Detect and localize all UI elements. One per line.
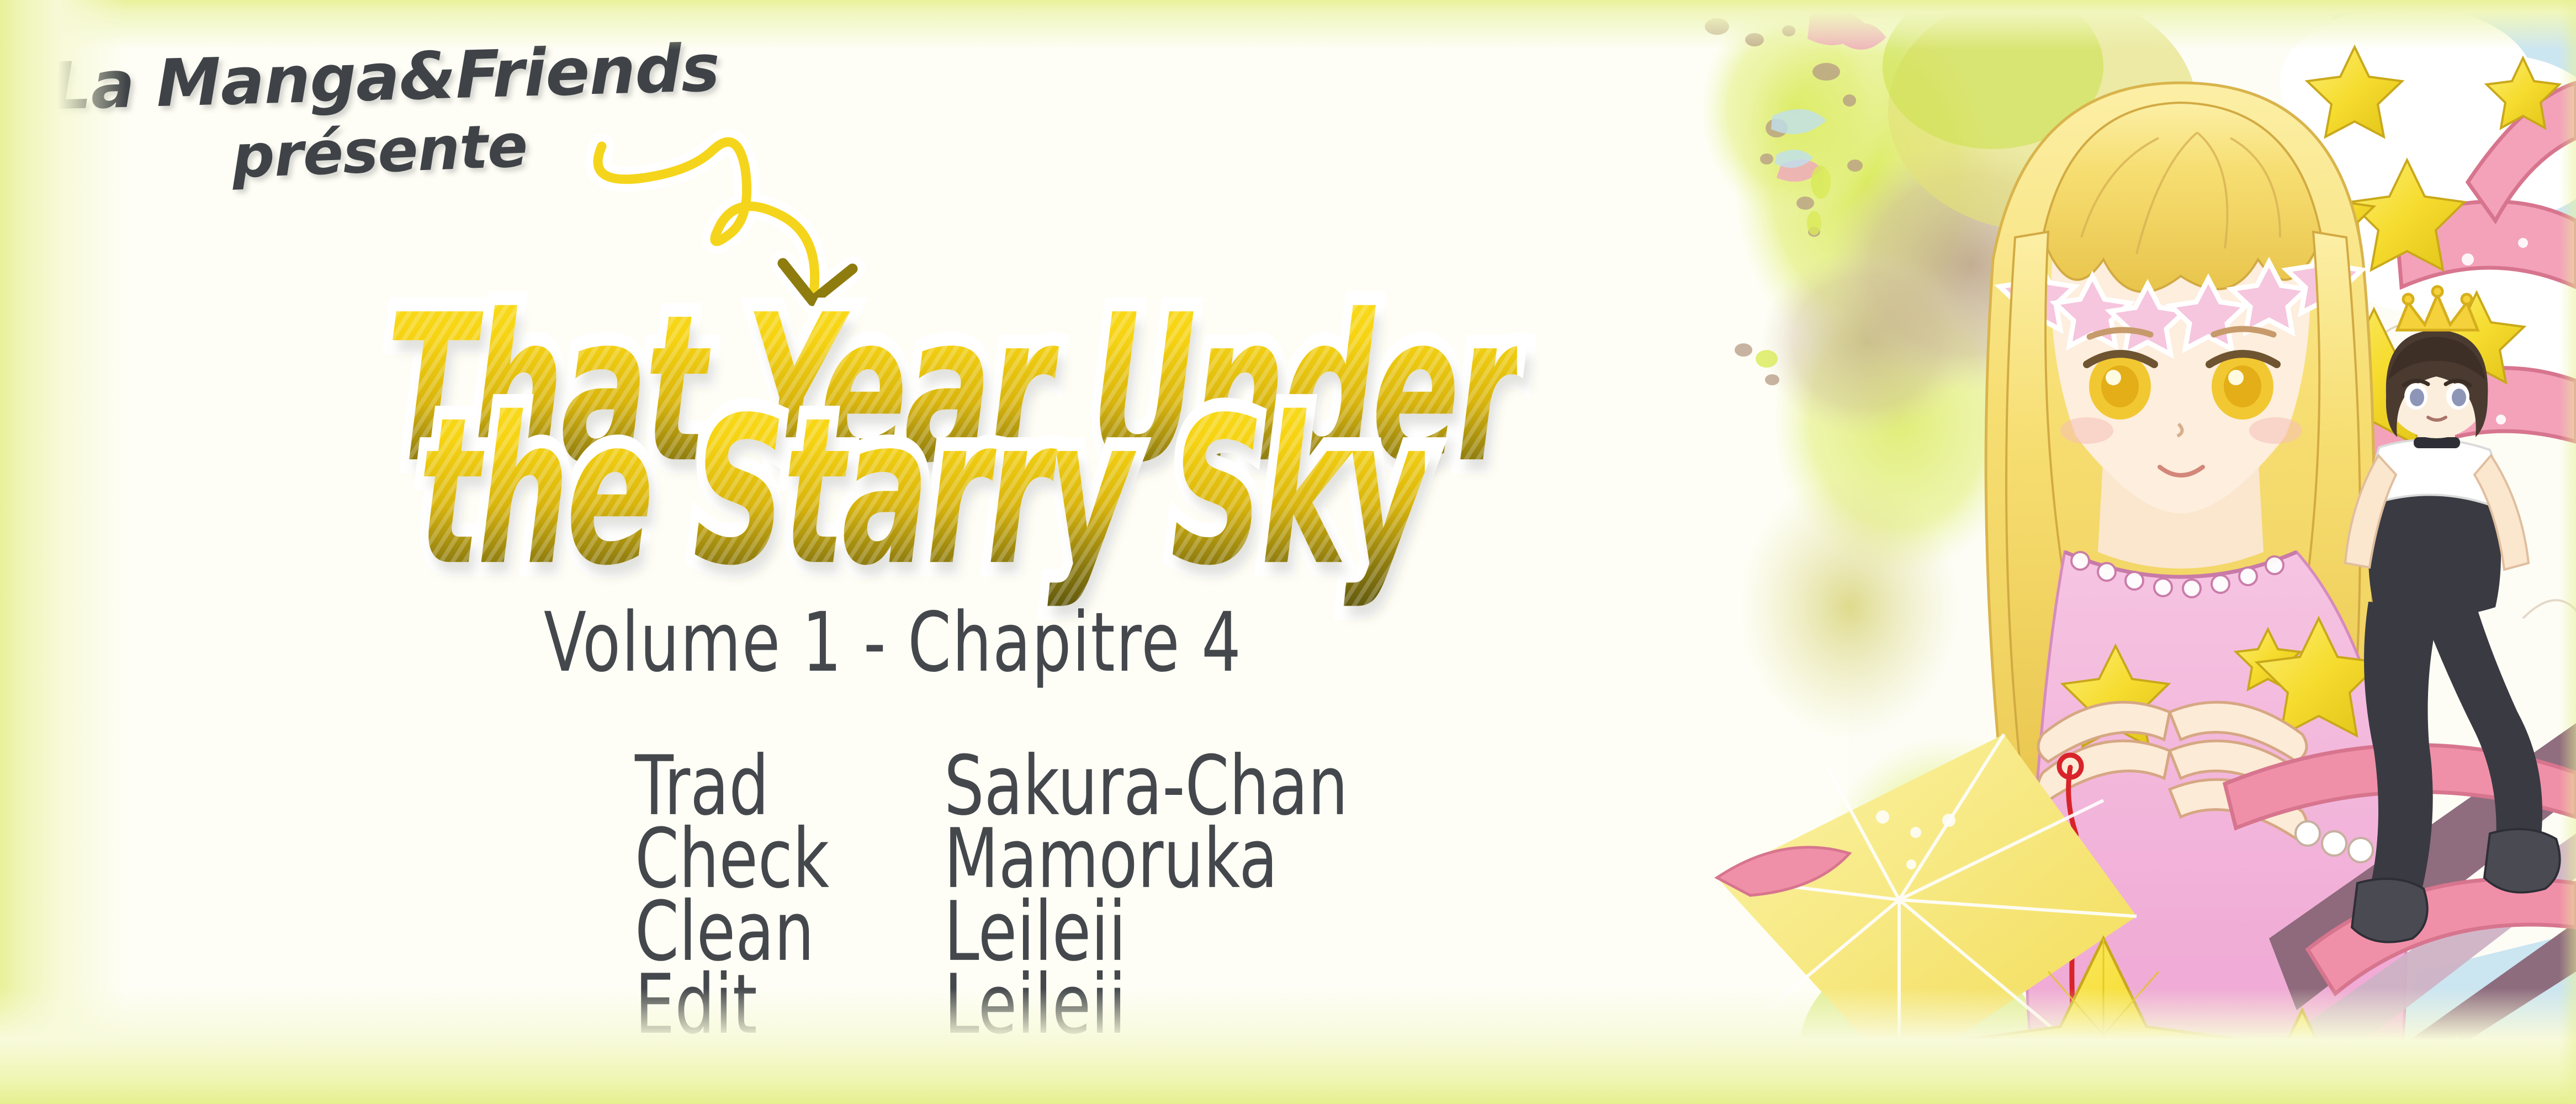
credits-text-column: La Manga&Friends présente That Year Unde…	[0, 0, 1722, 1104]
credit-name: Leileii	[944, 958, 1348, 1050]
credits-table: Trad Sakura-Chan Check Mamoruka Clean Le…	[635, 740, 1360, 1032]
series-title: That Year Under That Year Under the Star…	[386, 272, 1656, 537]
studio-name: La Manga&Friends	[49, 32, 824, 119]
cover-artwork	[1684, 0, 2576, 1104]
credit-role: Edit	[635, 958, 913, 1050]
volume-chapter-label: Volume 1 - Chapitre 4	[544, 595, 1242, 691]
manga-credits-page: La Manga&Friends présente That Year Unde…	[0, 0, 2576, 1104]
title-line-2: the Starry Sky the Starry Sky	[418, 374, 1425, 611]
presents-label: présente	[231, 112, 529, 192]
